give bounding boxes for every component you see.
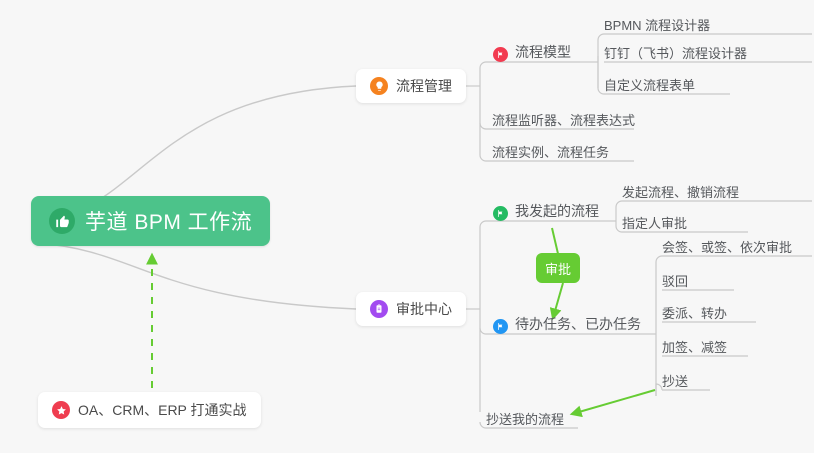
node-label: BPMN 流程设计器: [604, 15, 710, 34]
approval-annotation-badge[interactable]: 审批: [536, 253, 580, 283]
node-cc[interactable]: 抄送: [662, 366, 688, 392]
flag-blue-icon: [493, 319, 508, 334]
root-node[interactable]: 芋道 BPM 工作流: [31, 196, 270, 246]
star-icon: [52, 401, 70, 419]
callout-label: OA、CRM、ERP 打通实战: [78, 400, 247, 420]
node-label: 指定人审批: [622, 213, 687, 232]
node-process-model[interactable]: 流程模型: [493, 38, 571, 64]
flag-red-icon: [493, 47, 508, 62]
mindmap-canvas: 芋道 BPM 工作流 OA、CRM、ERP 打通实战 流程管理 流程模型 BPM…: [0, 0, 814, 453]
node-label: 流程模型: [515, 42, 571, 62]
node-delegate-transfer[interactable]: 委派、转办: [662, 298, 727, 324]
node-listener-expression[interactable]: 流程监听器、流程表达式: [492, 105, 635, 131]
node-custom-process-form[interactable]: 自定义流程表单: [604, 70, 695, 96]
node-todo-done[interactable]: 待办任务、已办任务: [493, 310, 641, 336]
branch-label: 流程管理: [396, 76, 452, 96]
node-bpmn-designer[interactable]: BPMN 流程设计器: [604, 10, 710, 36]
badge-label: 审批: [545, 259, 571, 278]
node-label: 会签、或签、依次审批: [662, 237, 792, 256]
node-start-cancel[interactable]: 发起流程、撤销流程: [622, 177, 739, 203]
node-multi-sign[interactable]: 会签、或签、依次审批: [662, 232, 792, 258]
node-label: 发起流程、撤销流程: [622, 182, 739, 201]
branch-node-process-management[interactable]: 流程管理: [356, 69, 466, 103]
node-cc-to-me[interactable]: 抄送我的流程: [486, 404, 564, 430]
node-instance-task[interactable]: 流程实例、流程任务: [492, 137, 609, 163]
node-label: 加签、减签: [662, 337, 727, 356]
node-label: 我发起的流程: [515, 201, 599, 221]
node-label: 委派、转办: [662, 303, 727, 322]
branch-node-approval-center[interactable]: 审批中心: [356, 292, 466, 326]
node-assignee-approval[interactable]: 指定人审批: [622, 208, 687, 234]
thumbs-up-icon: [49, 208, 75, 234]
flag-green-icon: [493, 206, 508, 221]
node-label: 流程实例、流程任务: [492, 142, 609, 161]
lightbulb-icon: [370, 77, 388, 95]
clipboard-icon: [370, 300, 388, 318]
node-label: 流程监听器、流程表达式: [492, 110, 635, 129]
node-label: 抄送我的流程: [486, 409, 564, 428]
callout-node[interactable]: OA、CRM、ERP 打通实战: [38, 392, 261, 428]
node-dingtalk-feishu-designer[interactable]: 钉钉（飞书）流程设计器: [604, 38, 747, 64]
node-reject[interactable]: 驳回: [662, 266, 688, 292]
node-label: 驳回: [662, 271, 688, 290]
node-label: 自定义流程表单: [604, 75, 695, 94]
node-label: 钉钉（飞书）流程设计器: [604, 43, 747, 62]
node-my-initiated[interactable]: 我发起的流程: [493, 197, 599, 223]
node-label: 待办任务、已办任务: [515, 314, 641, 334]
root-label: 芋道 BPM 工作流: [85, 206, 252, 236]
node-label: 抄送: [662, 371, 688, 390]
branch-label: 审批中心: [396, 299, 452, 319]
node-add-remove-sign[interactable]: 加签、减签: [662, 332, 727, 358]
